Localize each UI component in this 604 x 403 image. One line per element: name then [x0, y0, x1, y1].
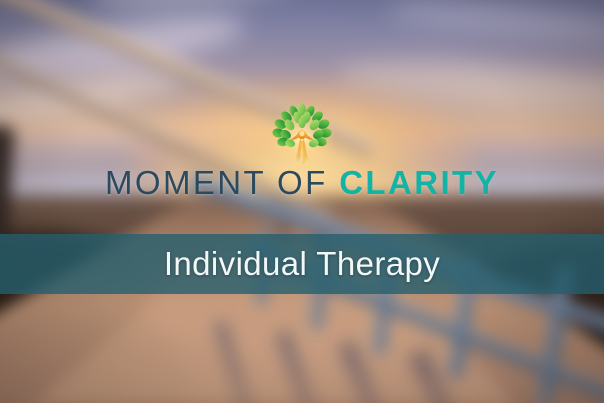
title-banner: Individual Therapy: [0, 234, 604, 294]
brand-wordmark: MOMENT OF CLARITY: [105, 166, 499, 199]
page-title: Individual Therapy: [164, 245, 440, 283]
tree-of-life-logo-icon: [265, 96, 339, 170]
background-photo: [0, 0, 604, 403]
wordmark-moment-of: MOMENT OF: [105, 164, 339, 201]
hero-banner: MOMENT OF CLARITY Individual Therapy: [0, 0, 604, 403]
wordmark-clarity: CLARITY: [339, 164, 499, 201]
brand-logo[interactable]: MOMENT OF CLARITY: [0, 96, 604, 199]
